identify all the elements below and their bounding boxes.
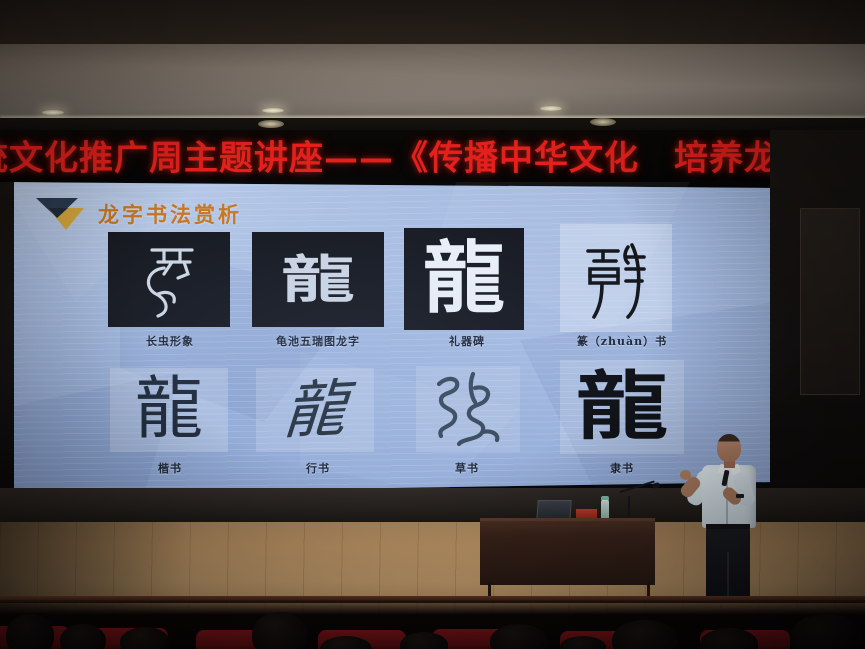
banner-text: 统文化推广周主题讲座——《传播中华文化 培养龙的传人 <box>0 131 865 180</box>
calligraphy-image-4 <box>560 224 672 332</box>
projection-screen: 龙字书法赏析 <box>0 182 775 494</box>
calligraphy-image-2: 龍 <box>252 232 384 327</box>
calligraphy-glyph-8: 龍 <box>576 370 668 444</box>
presenter-belt <box>706 524 750 529</box>
auditorium-photo: 统文化推广周主题讲座——《传播中华文化 培养龙的传人 龙字书法赏析 <box>0 0 865 649</box>
calligraphy-caption-5: 楷书 <box>96 460 244 476</box>
calligraphy-cell-5: 龍 楷书 <box>96 372 244 482</box>
ceiling-light-3 <box>540 106 562 111</box>
calligraphy-image-3: 龍 <box>404 228 524 330</box>
presenter-head <box>717 434 741 462</box>
calligraphy-cell-7: 草书 <box>392 372 542 482</box>
calligraphy-cell-4: 篆（zhuàn）书 <box>542 232 702 357</box>
downlight-1 <box>258 120 284 128</box>
calligraphy-image-8: 龍 <box>560 360 684 454</box>
oracle-bone-dragon-glyph-icon <box>134 240 204 320</box>
calligraphy-cell-8: 龍 隶书 <box>542 372 702 482</box>
calligraphy-caption-7: 草书 <box>392 460 542 476</box>
presenter-leg-seam <box>727 552 729 600</box>
wall-acoustic-panel <box>800 208 860 395</box>
calligraphy-image-1 <box>108 232 230 327</box>
calligraphy-caption-2: 龟池五瑞图龙字 <box>244 333 392 349</box>
presenter-watch <box>736 494 744 498</box>
presenter-left-hand <box>680 470 691 480</box>
calligraphy-glyph-2: 龍 <box>281 254 354 305</box>
calligraphy-caption-8: 隶书 <box>542 460 702 476</box>
calligraphy-caption-1: 长虫形象 <box>96 333 244 349</box>
calligraphy-caption-3: 礼器碑 <box>392 333 542 349</box>
calligraphy-cell-2: 龍 龟池五瑞图龙字 <box>244 232 392 357</box>
ceiling-light-2 <box>262 108 284 113</box>
audience-head <box>120 627 170 649</box>
calligraphy-caption-6: 行书 <box>244 460 392 476</box>
presenter-table <box>480 518 655 585</box>
audience-head <box>60 624 106 649</box>
left-wall <box>0 182 14 502</box>
presenter <box>686 434 778 602</box>
stage-banner: 统文化推广周主题讲座——《传播中华文化 培养龙的传人 <box>0 130 865 182</box>
calligraphy-glyph-3: 龍 <box>423 240 505 318</box>
seal-script-dragon-glyph-icon <box>580 235 652 321</box>
triangle-chevron-logo-icon <box>34 196 86 232</box>
calligraphy-image-6: 龍 <box>256 368 374 452</box>
calligraphy-cell-6: 龍 行书 <box>244 372 392 482</box>
slide-title: 龙字书法赏析 <box>98 199 242 229</box>
calligraphy-caption-4: 篆（zhuàn）书 <box>542 333 702 349</box>
calligraphy-image-7 <box>416 366 520 452</box>
calligraphy-cell-3: 龍 礼器碑 <box>392 232 542 357</box>
ceiling-light-1 <box>42 110 64 115</box>
calligraphy-cell-1: 长虫形象 <box>96 232 244 357</box>
calligraphy-image-5: 龍 <box>110 368 228 452</box>
calligraphy-grid: 长虫形象 龍 龟池五瑞图龙字 龍 礼器碑 <box>96 232 716 482</box>
calligraphy-glyph-6: 龍 <box>282 377 349 442</box>
downlight-2 <box>590 118 616 126</box>
cursive-script-dragon-glyph-icon <box>429 368 507 450</box>
audience-head <box>6 614 54 649</box>
calligraphy-glyph-5: 龍 <box>135 376 203 444</box>
